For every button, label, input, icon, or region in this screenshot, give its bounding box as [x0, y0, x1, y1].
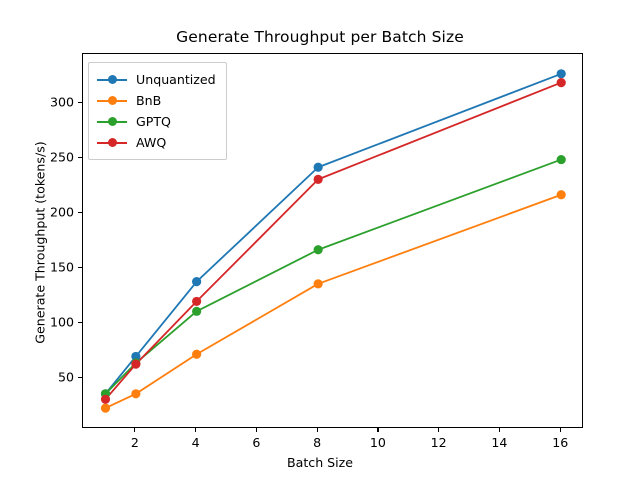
- x-tick-mark: [377, 428, 378, 432]
- data-point: [557, 155, 566, 164]
- data-point: [101, 395, 110, 404]
- data-point: [192, 350, 201, 359]
- y-tick-mark: [78, 212, 82, 213]
- series-line-bnb: [105, 195, 561, 408]
- x-tick-label: 4: [192, 435, 200, 450]
- data-point: [192, 297, 201, 306]
- chart-figure: Generate Throughput per Batch Size 24681…: [0, 0, 640, 480]
- data-point: [314, 163, 323, 172]
- x-tick-label: 14: [491, 435, 507, 450]
- x-tick-label: 8: [313, 435, 321, 450]
- x-tick-label: 10: [370, 435, 386, 450]
- legend-item-gptq: GPTQ: [97, 111, 216, 132]
- legend-label: Unquantized: [136, 72, 216, 87]
- x-tick-label: 16: [552, 435, 568, 450]
- data-point: [192, 307, 201, 316]
- x-tick-mark: [134, 428, 135, 432]
- data-point: [192, 277, 201, 286]
- x-tick-mark: [560, 428, 561, 432]
- y-tick-mark: [78, 102, 82, 103]
- x-tick-mark: [499, 428, 500, 432]
- legend-label: BnB: [136, 93, 161, 108]
- data-point: [314, 175, 323, 184]
- y-tick-mark: [78, 157, 82, 158]
- legend-marker-icon: [97, 94, 127, 108]
- y-tick-mark: [78, 322, 82, 323]
- x-tick-label: 2: [131, 435, 139, 450]
- data-point: [557, 190, 566, 199]
- y-tick-mark: [78, 267, 82, 268]
- chart-title: Generate Throughput per Batch Size: [0, 28, 640, 46]
- legend-marker-icon: [97, 73, 127, 87]
- legend-label: GPTQ: [136, 114, 171, 129]
- x-tick-label: 6: [252, 435, 260, 450]
- x-tick-mark: [256, 428, 257, 432]
- x-tick-label: 12: [431, 435, 447, 450]
- data-point: [101, 404, 110, 413]
- series-line-gptq: [105, 160, 561, 394]
- legend-marker-icon: [97, 115, 127, 129]
- x-tick-mark: [195, 428, 196, 432]
- x-tick-mark: [317, 428, 318, 432]
- data-point: [314, 245, 323, 254]
- data-point: [131, 389, 140, 398]
- data-point: [314, 279, 323, 288]
- legend-item-unquantized: Unquantized: [97, 69, 216, 90]
- data-point: [557, 69, 566, 78]
- y-tick-mark: [78, 377, 82, 378]
- legend-marker-icon: [97, 136, 127, 150]
- x-axis-label: Batch Size: [0, 455, 640, 470]
- legend-item-awq: AWQ: [97, 132, 216, 153]
- x-tick-mark: [438, 428, 439, 432]
- data-point: [557, 78, 566, 87]
- data-point: [131, 360, 140, 369]
- legend-label: AWQ: [136, 135, 166, 150]
- y-axis-label: Generate Throughput (tokens/s): [33, 73, 48, 413]
- chart-legend: UnquantizedBnBGPTQAWQ: [88, 62, 227, 160]
- legend-item-bnb: BnB: [97, 90, 216, 111]
